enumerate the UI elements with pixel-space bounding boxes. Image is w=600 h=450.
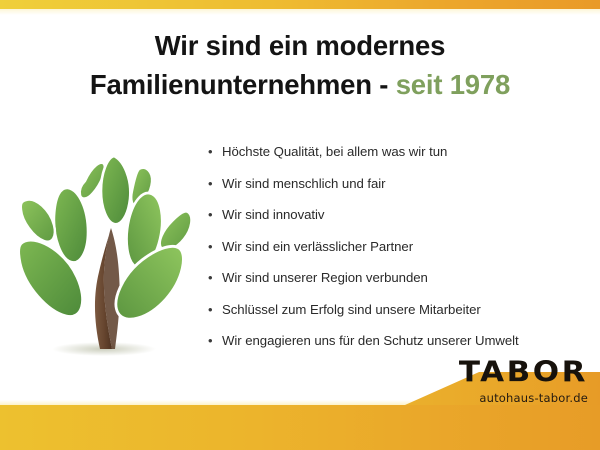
list-item: • Höchste Qualität, bei allem was wir tu… (208, 144, 590, 176)
bullet-dot-icon: • (208, 240, 222, 253)
bullet-dot-icon: • (208, 334, 222, 347)
list-item: • Schlüssel zum Erfolg sind unsere Mitar… (208, 302, 590, 334)
bottom-accent-bar (0, 405, 600, 450)
page-title: Wir sind ein modernes Familienunternehme… (20, 26, 580, 104)
list-item-label: Höchste Qualität, bei allem was wir tun (222, 144, 590, 159)
headline-line-2-accent: seit 1978 (396, 69, 510, 100)
logo-website-url: autohaus-tabor.de (428, 393, 588, 405)
list-item: • Wir sind menschlich und fair (208, 176, 590, 208)
tree-icon (8, 136, 193, 368)
brand-logo[interactable]: TABOR autohaus-tabor.de (428, 356, 588, 404)
top-accent-bar (0, 0, 600, 9)
top-accent-bar-fade (0, 9, 600, 15)
headline-line-1: Wir sind ein modernes (155, 30, 445, 61)
list-item: • Wir sind ein verlässlicher Partner (208, 239, 590, 271)
bullet-dot-icon: • (208, 177, 222, 190)
headline-line-2-main: Familienunternehmen - (90, 69, 396, 100)
bullet-dot-icon: • (208, 145, 222, 158)
bullet-dot-icon: • (208, 271, 222, 284)
logo-wordmark: TABOR (428, 358, 588, 387)
bullet-dot-icon: • (208, 303, 222, 316)
value-bullet-list: • Höchste Qualität, bei allem was wir tu… (208, 144, 590, 365)
tree-illustration (8, 136, 193, 368)
list-item-label: Wir sind unserer Region verbunden (222, 270, 590, 285)
slide-canvas: Wir sind ein modernes Familienunternehme… (0, 0, 600, 450)
list-item-label: Schlüssel zum Erfolg sind unsere Mitarbe… (222, 302, 590, 317)
list-item-label: Wir sind ein verlässlicher Partner (222, 239, 590, 254)
list-item: • Wir sind unserer Region verbunden (208, 270, 590, 302)
list-item-label: Wir sind menschlich und fair (222, 176, 590, 191)
bullet-dot-icon: • (208, 208, 222, 221)
list-item-label: Wir sind innovativ (222, 207, 590, 222)
list-item: • Wir sind innovativ (208, 207, 590, 239)
list-item-label: Wir engagieren uns für den Schutz unsere… (222, 333, 590, 348)
